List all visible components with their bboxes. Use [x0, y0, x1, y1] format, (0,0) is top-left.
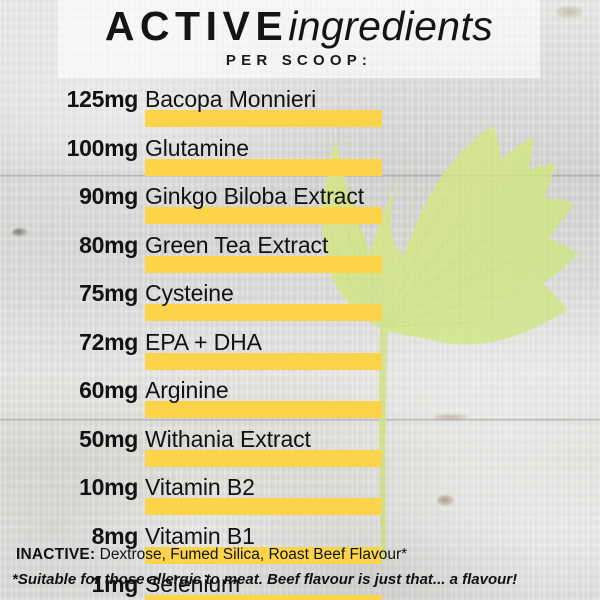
ingredient-name: Withania Extract — [145, 424, 311, 454]
ingredient-row: 10mg Vitamin B2 — [0, 472, 600, 521]
ingredient-name: Vitamin B2 — [145, 472, 255, 502]
ingredient-amount: 50mg — [24, 424, 138, 454]
ingredient-amount: 125mg — [24, 84, 138, 114]
ingredients-poster: ACTIVEingredients PER SCOOP: 125mg Bacop… — [0, 0, 600, 600]
page-subtitle: PER SCOOP: — [58, 52, 540, 70]
ingredient-name: Ginkgo Biloba Extract — [145, 181, 364, 211]
ingredient-row: 90mg Ginkgo Biloba Extract — [0, 181, 600, 230]
ingredient-row: 50mg Withania Extract — [0, 424, 600, 473]
ingredient-row: 100mg Glutamine — [0, 133, 600, 182]
footer: INACTIVE: Dextrose, Fumed Silica, Roast … — [0, 544, 600, 590]
ingredient-amount: 10mg — [24, 472, 138, 502]
title-secondary: ingredients — [288, 3, 493, 49]
inactive-label: INACTIVE: — [16, 546, 95, 563]
ingredient-name: EPA + DHA — [145, 327, 262, 357]
ingredient-row: 60mg Arginine — [0, 375, 600, 424]
header-panel: ACTIVEingredients PER SCOOP: — [58, 0, 540, 78]
ingredient-name: Cysteine — [145, 278, 234, 308]
wood-knot — [556, 6, 582, 18]
title-primary: ACTIVE — [105, 3, 288, 49]
ingredient-list: 125mg Bacopa Monnieri 100mg Glutamine 90… — [0, 84, 600, 600]
footnote: *Suitable for those allergic to meat. Be… — [12, 569, 600, 590]
ingredient-row: 75mg Cysteine — [0, 278, 600, 327]
ingredient-amount: 60mg — [24, 375, 138, 405]
ingredient-amount: 100mg — [24, 133, 138, 163]
ingredient-name: Arginine — [145, 375, 229, 405]
inactive-ingredients-line: INACTIVE: Dextrose, Fumed Silica, Roast … — [16, 544, 600, 566]
ingredient-row: 80mg Green Tea Extract — [0, 230, 600, 279]
ingredient-name: Glutamine — [145, 133, 249, 163]
ingredient-row: 125mg Bacopa Monnieri — [0, 84, 600, 133]
ingredient-amount: 80mg — [24, 230, 138, 260]
ingredient-amount: 90mg — [24, 181, 138, 211]
page-title: ACTIVEingredients — [58, 6, 540, 47]
inactive-value: Dextrose, Fumed Silica, Roast Beef Flavo… — [95, 546, 407, 563]
ingredient-name: Green Tea Extract — [145, 230, 328, 260]
ingredient-amount: 72mg — [24, 327, 138, 357]
subtitle-label: PER SCOOP: — [226, 52, 372, 69]
ingredient-amount: 75mg — [24, 278, 138, 308]
ingredient-name: Bacopa Monnieri — [145, 84, 316, 114]
ingredient-row: 72mg EPA + DHA — [0, 327, 600, 376]
